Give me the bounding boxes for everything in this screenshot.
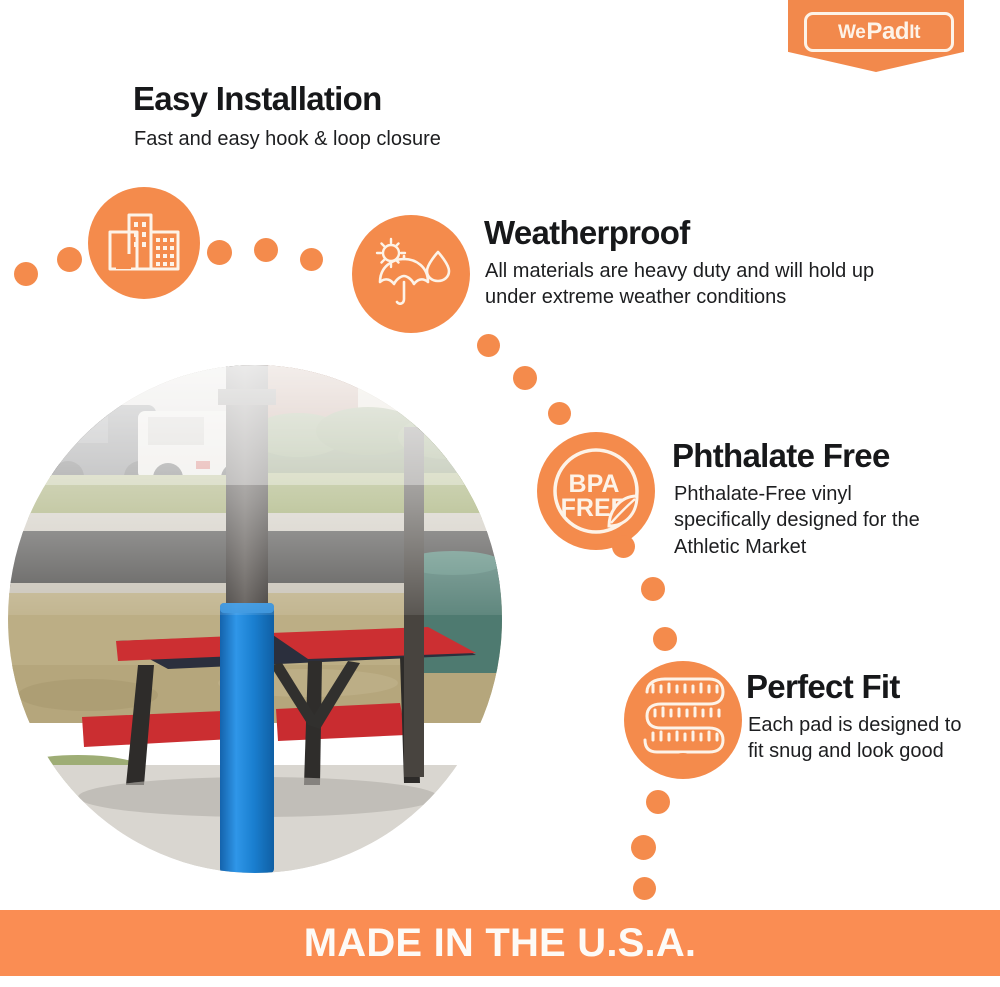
made-in-usa-text: MADE IN THE U.S.A.: [304, 921, 697, 966]
feature-desc-phthalate-free: Phthalate-Free vinyl specifically design…: [674, 481, 939, 560]
icon-building-installation-icon: [88, 187, 200, 299]
trail-dot: [653, 627, 677, 651]
trail-dot: [57, 247, 82, 272]
product-photo: [8, 365, 502, 873]
made-in-usa-banner: MADE IN THE U.S.A.: [0, 910, 1000, 976]
infographic-page: WePadIt Easy Installation Fast and easy …: [0, 0, 1000, 987]
bpa-free-leaf-icon-glyph: BPA FREE: [541, 436, 651, 546]
logo-text-it: It: [909, 23, 920, 42]
trail-dot: [641, 577, 665, 601]
logo-text-pad: Pad: [866, 20, 909, 44]
building-installation-icon-glyph: [107, 211, 181, 275]
trail-dot: [14, 262, 38, 286]
feature-desc-weatherproof: All materials are heavy duty and will ho…: [485, 258, 905, 311]
trail-dot: [548, 402, 571, 425]
trail-dot: [254, 238, 278, 262]
logo-wordmark: WePadIt: [804, 12, 954, 52]
icon-measuring-tape-icon: [624, 661, 742, 779]
sun-umbrella-raindrop-icon-glyph: [370, 236, 452, 312]
trail-dot: [646, 790, 670, 814]
trail-dot: [300, 248, 323, 271]
icon-sun-umbrella-raindrop-icon: [352, 215, 470, 333]
trail-dot: [631, 835, 656, 860]
icon-bpa-free-leaf-icon: BPA FREE: [537, 432, 655, 550]
trail-dot: [207, 240, 232, 265]
product-photo-image: [8, 365, 502, 873]
brand-logo[interactable]: WePadIt: [788, 0, 964, 72]
trail-dot: [513, 366, 537, 390]
feature-title-perfect-fit: Perfect Fit: [746, 668, 900, 706]
measuring-tape-icon-glyph: [635, 670, 731, 770]
logo-text-we: We: [838, 23, 865, 42]
feature-desc-perfect-fit: Each pad is designed to fit snug and loo…: [748, 712, 973, 765]
feature-title-phthalate-free: Phthalate Free: [672, 437, 890, 475]
feature-title-easy-installation: Easy Installation: [133, 80, 382, 118]
trail-dot: [612, 535, 635, 558]
feature-desc-easy-installation: Fast and easy hook & loop closure: [134, 126, 554, 152]
feature-title-weatherproof: Weatherproof: [484, 214, 690, 252]
trail-dot: [477, 334, 500, 357]
trail-dot: [633, 877, 656, 900]
